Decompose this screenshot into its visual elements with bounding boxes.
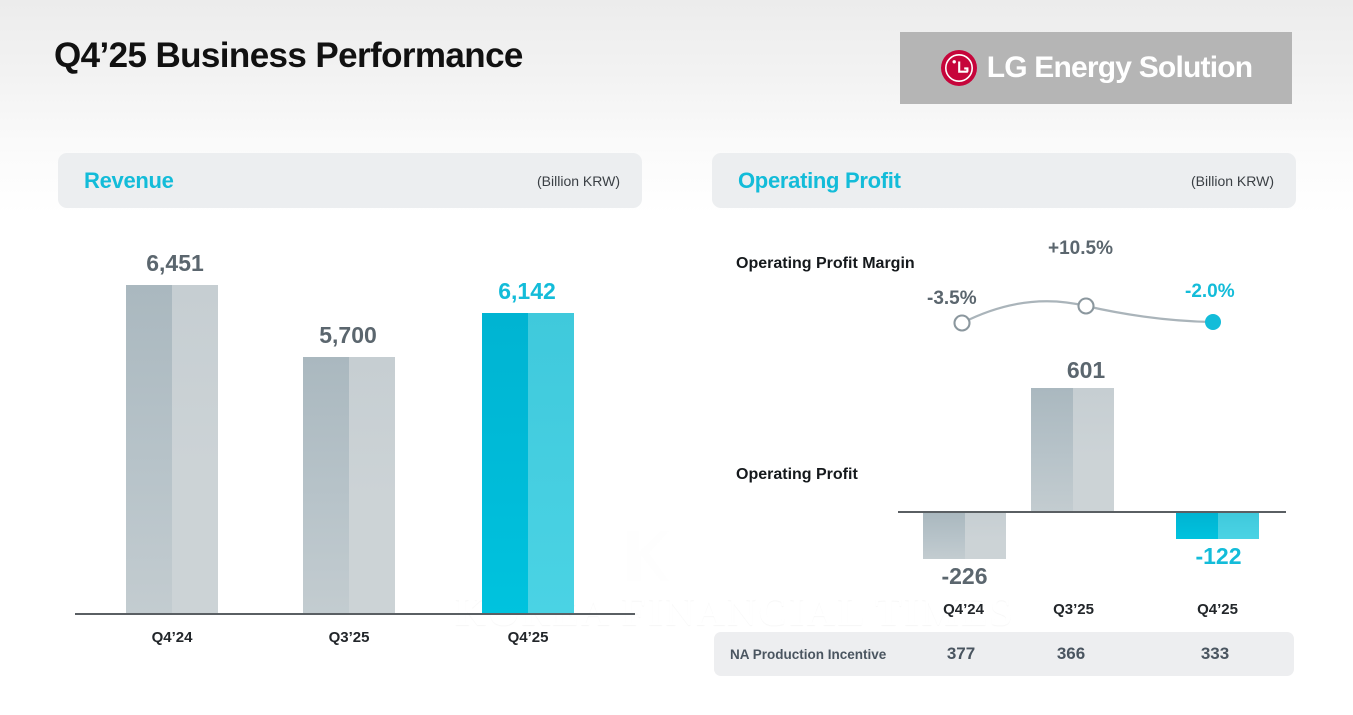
- na-production-incentive-row: NA Production Incentive 377 366 333: [714, 632, 1294, 676]
- incentive-value-q3-25: 366: [1026, 644, 1116, 664]
- brand-logo: LG Energy Solution: [900, 32, 1292, 104]
- revenue-value-label-1: 5,700: [293, 322, 403, 349]
- panel-header-operating-profit: Operating Profit (Billion KRW): [712, 153, 1296, 208]
- brand-wordmark: LG Energy Solution: [987, 51, 1253, 85]
- profit-value-label-0: -226: [917, 563, 1012, 590]
- bar-half-right: [965, 513, 1007, 559]
- incentive-row-label: NA Production Incentive: [730, 647, 886, 662]
- margin-value-label-0: -3.5%: [927, 288, 977, 310]
- bar-half-right: [1218, 513, 1260, 539]
- incentive-value-q4-24: 377: [916, 644, 1006, 664]
- operating-profit-margin-label: Operating Profit Margin: [736, 255, 915, 273]
- revenue-axis-label-2: Q4’25: [473, 629, 583, 646]
- bar-half-right: [172, 285, 218, 614]
- bar-half-right: [349, 357, 395, 614]
- bar-half-left: [923, 513, 965, 559]
- incentive-value-q4-25: 333: [1170, 644, 1260, 664]
- profit-bar-q4-25: [1176, 513, 1259, 539]
- profit-value-label-1: 601: [1031, 357, 1141, 384]
- margin-value-label-1: +10.5%: [1048, 238, 1113, 260]
- bar-half-left: [303, 357, 349, 614]
- bar-half-right: [1073, 388, 1115, 512]
- margin-marker-q3-25: [1079, 299, 1094, 314]
- k-logo-icon: [617, 525, 677, 587]
- panel-title-revenue: Revenue: [84, 168, 174, 194]
- revenue-bar-q3-25: [303, 357, 395, 614]
- operating-profit-section-label: Operating Profit: [736, 466, 858, 484]
- margin-marker-q4-25: [1205, 314, 1221, 330]
- bar-half-left: [126, 285, 172, 614]
- margin-value-label-2: -2.0%: [1185, 281, 1235, 303]
- panel-header-revenue: Revenue (Billion KRW): [58, 153, 642, 208]
- panel-unit-operating-profit: (Billion KRW): [1191, 173, 1274, 189]
- revenue-baseline: [75, 613, 635, 615]
- revenue-value-label-0: 6,451: [120, 250, 230, 277]
- profit-axis-label-1: Q3’25: [1026, 601, 1121, 618]
- revenue-axis-label-0: Q4’24: [117, 629, 227, 646]
- panel-title-operating-profit: Operating Profit: [738, 168, 901, 194]
- operating-profit-baseline: [898, 511, 1286, 513]
- bar-half-right: [528, 313, 574, 614]
- margin-marker-q4-24: [955, 316, 970, 331]
- profit-axis-label-2: Q4’25: [1170, 601, 1265, 618]
- bar-half-left: [482, 313, 528, 614]
- revenue-bar-q4-24: [126, 285, 218, 614]
- lg-circle-icon: [940, 49, 978, 87]
- page-title: Q4’25 Business Performance: [54, 36, 523, 76]
- profit-axis-label-0: Q4’24: [916, 601, 1011, 618]
- revenue-bar-q4-25: [482, 313, 574, 614]
- bar-half-left: [1176, 513, 1218, 539]
- profit-bar-q4-24: [923, 513, 1006, 559]
- revenue-axis-label-1: Q3’25: [294, 629, 404, 646]
- profit-bar-q3-25: [1031, 388, 1114, 512]
- bar-half-left: [1031, 388, 1073, 512]
- panel-unit-revenue: (Billion KRW): [537, 173, 620, 189]
- revenue-value-label-2: 6,142: [472, 278, 582, 305]
- profit-value-label-2: -122: [1171, 543, 1266, 570]
